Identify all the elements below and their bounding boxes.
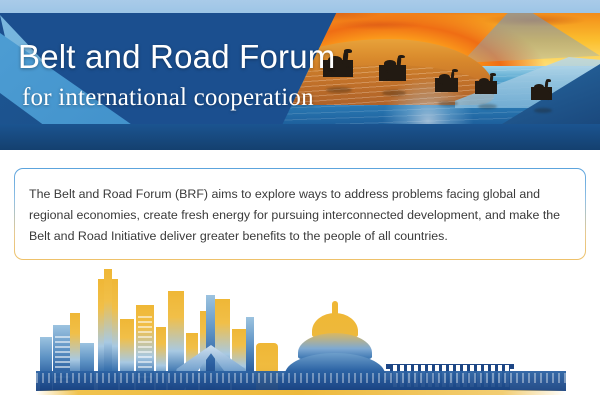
description-card: The Belt and Road Forum (BRF) aims to ex… <box>14 168 586 260</box>
camel-reflection <box>534 108 552 113</box>
banner-top-strip <box>0 0 600 13</box>
ground-line <box>36 390 566 395</box>
city-base-strip <box>36 371 566 391</box>
hero-banner: Belt and Road Forum for international co… <box>0 0 600 150</box>
camel-icon <box>531 87 552 100</box>
camel-icon <box>475 81 497 94</box>
camel-reflection <box>382 90 406 96</box>
page-subtitle: for international cooperation <box>22 84 314 112</box>
skyline-illustration: May 14 - May 15, 2017, Beijing <box>0 268 600 400</box>
description-text: The Belt and Road Forum (BRF) aims to ex… <box>29 184 571 247</box>
camel-reflection <box>438 101 458 106</box>
camel-icon <box>379 65 406 81</box>
description-card-inner: The Belt and Road Forum (BRF) aims to ex… <box>15 169 585 259</box>
camel-reflection <box>478 104 497 109</box>
banner-bottom-band <box>0 124 600 150</box>
page-title: Belt and Road Forum <box>18 38 335 76</box>
brf-poster: Belt and Road Forum for international co… <box>0 0 600 400</box>
camel-reflection <box>326 87 352 93</box>
camel-icon <box>435 78 458 92</box>
